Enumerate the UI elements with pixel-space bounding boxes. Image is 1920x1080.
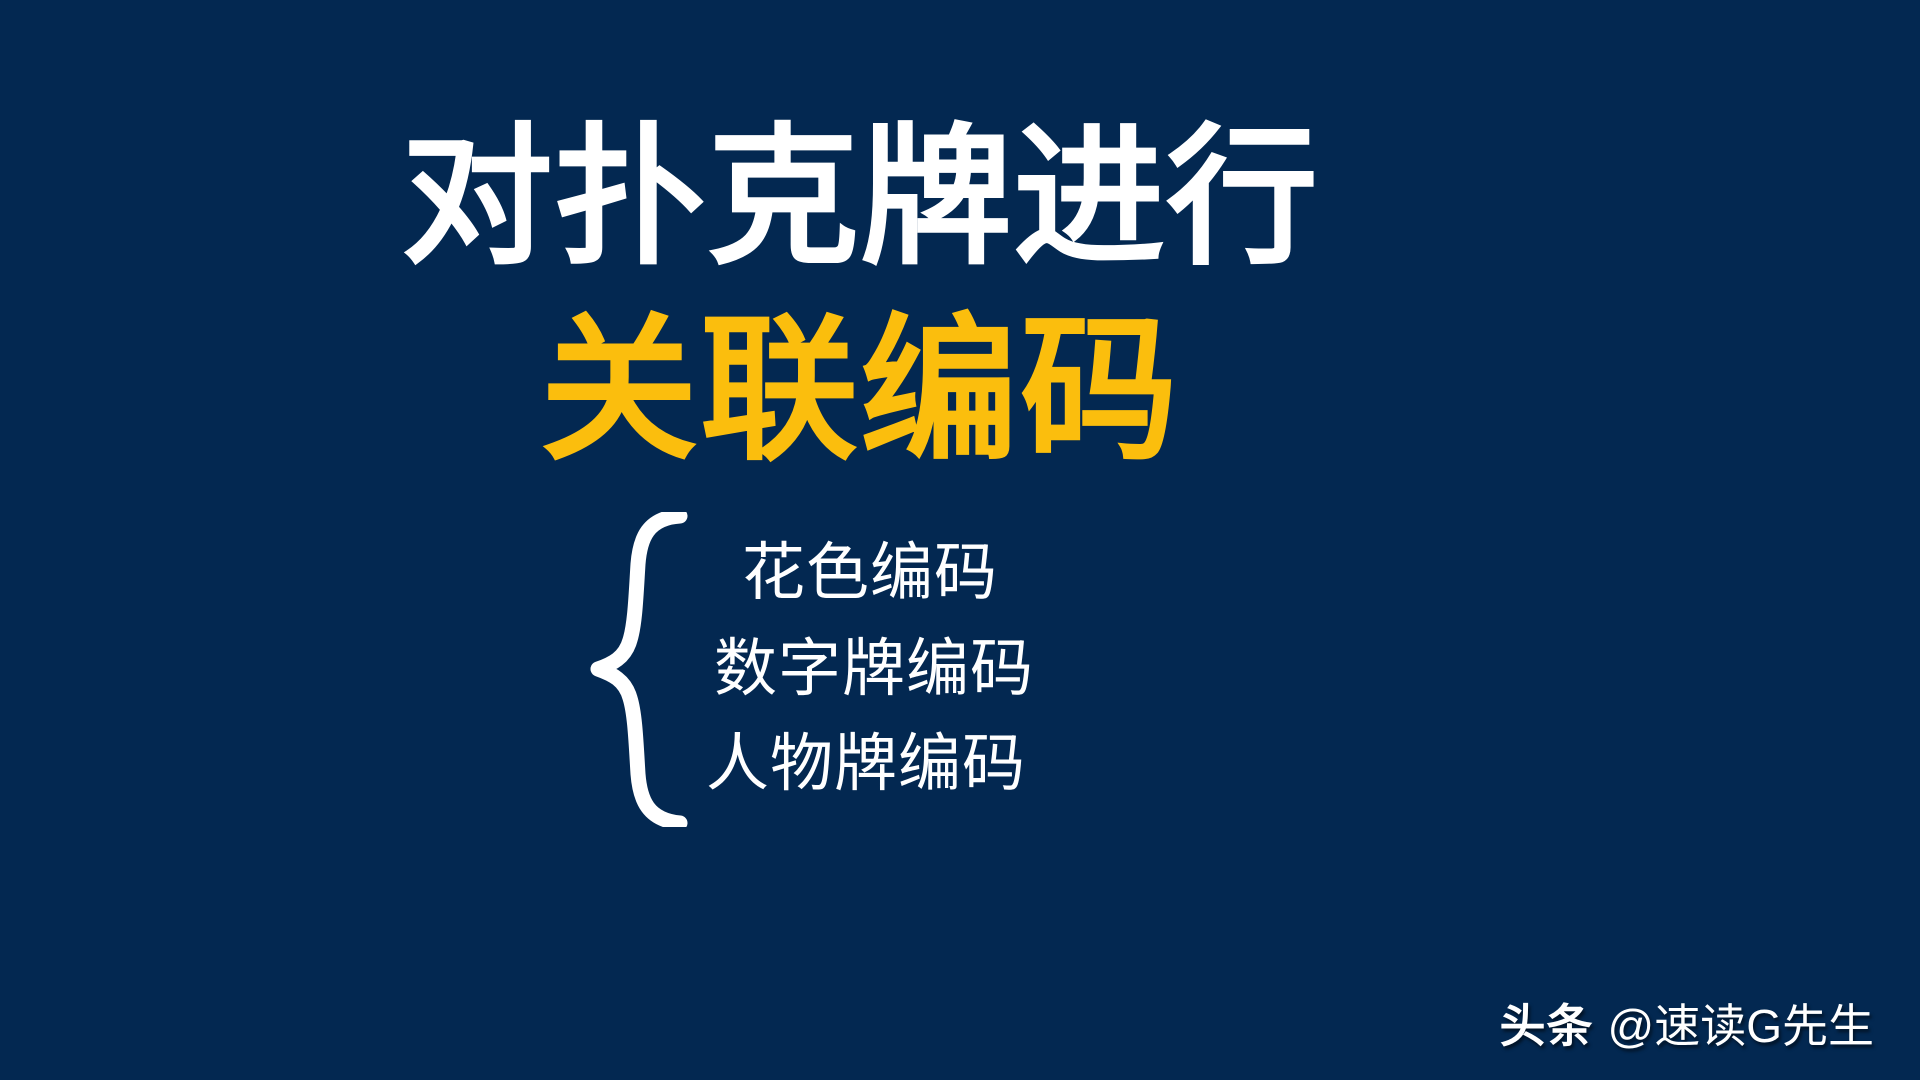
slide-canvas: 对扑克牌进行 关联编码 花色编码 数字牌编码 人物牌编码 头条 @速读G先生 <box>0 0 1920 1080</box>
list-item: 人物牌编码 <box>706 717 1034 813</box>
headline-block: 对扑克牌进行 关联编码 <box>0 118 1720 473</box>
detail-list: 花色编码 数字牌编码 人物牌编码 <box>706 526 1034 813</box>
detail-block: 花色编码 数字牌编码 人物牌编码 <box>588 512 1034 827</box>
watermark-handle: @速读G先生 <box>1608 990 1874 1056</box>
list-item: 数字牌编码 <box>706 622 1034 718</box>
page-title-line-2-accent: 关联编码 <box>0 309 1720 473</box>
list-item: 花色编码 <box>706 526 1034 622</box>
page-title-line-1: 对扑克牌进行 <box>0 118 1720 279</box>
watermark-brand: 头条 <box>1500 990 1594 1056</box>
curly-brace-icon <box>588 512 698 827</box>
watermark: 头条 @速读G先生 <box>1500 990 1874 1056</box>
